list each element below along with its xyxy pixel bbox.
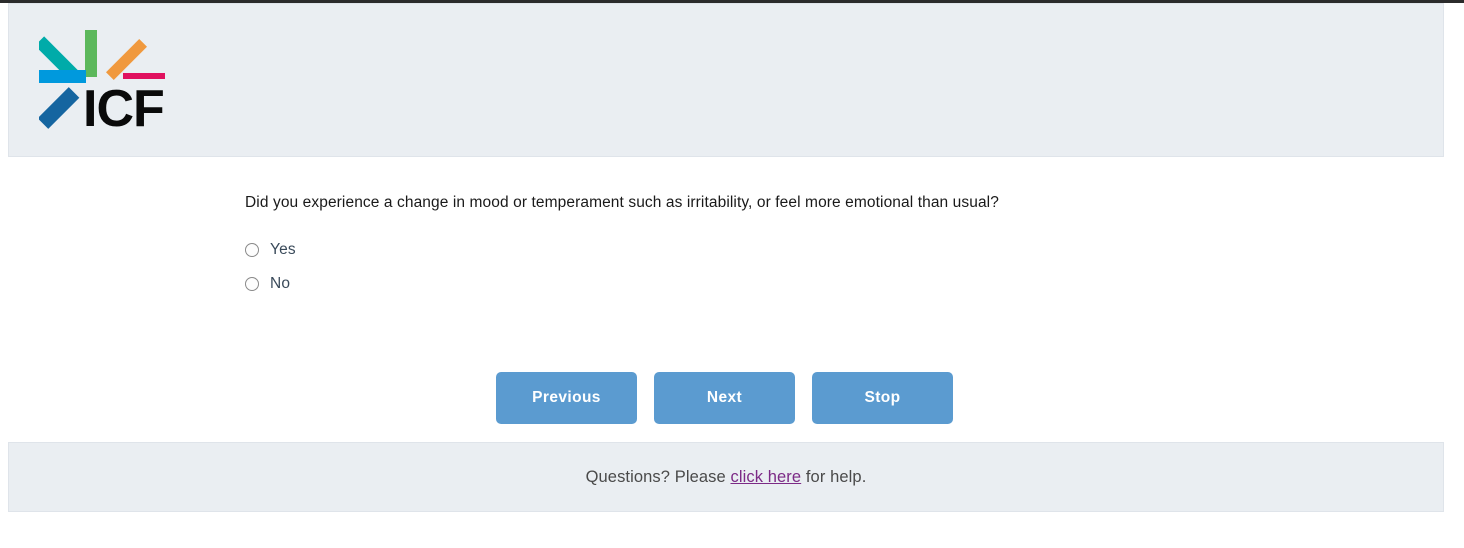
radio-button-no[interactable] xyxy=(245,277,259,291)
footer-text-after: for help. xyxy=(801,468,866,486)
stop-button[interactable]: Stop xyxy=(812,372,953,424)
logo-ray-light-blue xyxy=(39,70,86,83)
radio-label-yes: Yes xyxy=(270,241,296,259)
main-content: Did you experience a change in mood or t… xyxy=(0,157,1464,442)
next-button[interactable]: Next xyxy=(654,372,795,424)
logo-ray-dark-blue xyxy=(39,87,79,129)
logo-ray-green xyxy=(85,30,97,77)
survey-page: ICF Did you experience a change in mood … xyxy=(0,0,1464,548)
page-bottom-spacer xyxy=(0,512,1464,548)
radio-button-yes[interactable] xyxy=(245,243,259,257)
radio-option-yes[interactable]: Yes xyxy=(245,233,296,267)
previous-button[interactable]: Previous xyxy=(496,372,637,424)
radio-label-no: No xyxy=(270,275,290,293)
logo-wordmark: ICF xyxy=(83,80,164,138)
footer-text-before: Questions? Please xyxy=(586,468,731,486)
question-text: Did you experience a change in mood or t… xyxy=(245,193,999,213)
footer-band: Questions? Please click here for help. xyxy=(8,442,1444,512)
radio-option-no[interactable]: No xyxy=(245,267,296,301)
header-band: ICF xyxy=(8,3,1444,157)
logo-ray-pink xyxy=(123,73,165,79)
help-link[interactable]: click here xyxy=(730,468,801,486)
radio-group: Yes No xyxy=(245,233,296,301)
icf-logo: ICF xyxy=(39,29,189,139)
navigation-buttons: Previous Next Stop xyxy=(496,372,953,424)
footer-help-text: Questions? Please click here for help. xyxy=(586,468,867,487)
